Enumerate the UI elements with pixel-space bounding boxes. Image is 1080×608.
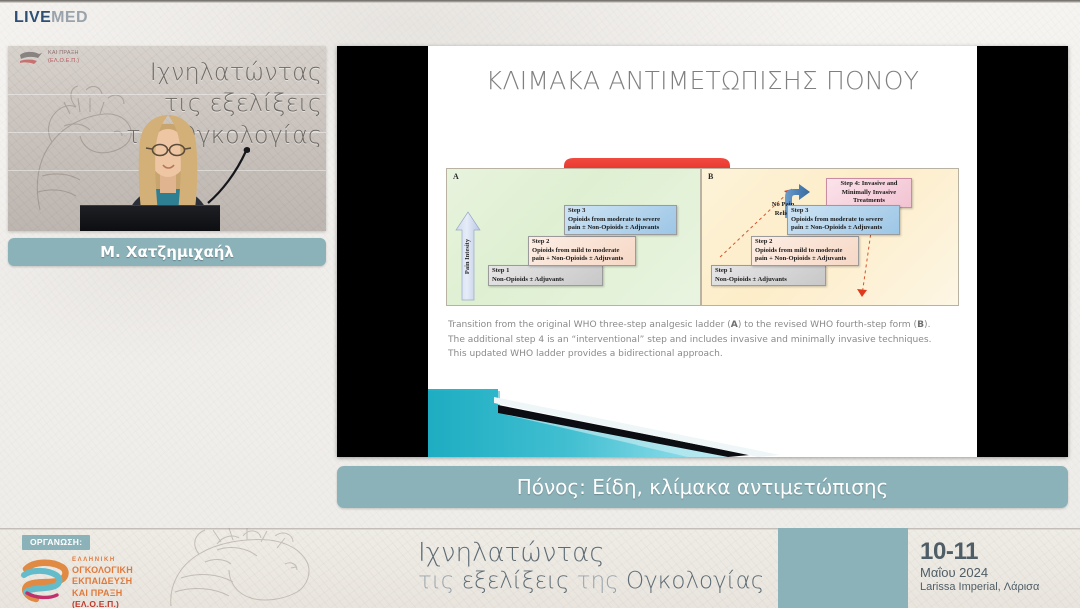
step-3-body-b: Opioids from moderate to severe pain ± N…	[791, 216, 896, 233]
stage-banner-line-1: Ιχνηλατώντας	[110, 60, 322, 84]
brand-part-live: LIVE	[14, 9, 51, 26]
step-2-title-a: Step 2	[532, 238, 632, 247]
microphone-icon	[206, 147, 250, 205]
pain-intensity-label-wrap: Pain Intesity	[455, 211, 481, 301]
step-2-box-a: Step 2 Opioids from mild to moderate pai…	[528, 236, 636, 266]
panel-a-letter: A	[453, 172, 459, 181]
figure-panel-a: A Pain Intesity Step 1 Non-Opioids ± Adj…	[446, 168, 701, 306]
eloep-swirl-icon	[18, 50, 44, 66]
figure-panel-b: B No Pain	[701, 168, 959, 306]
step-4-box-b: Step 4: Invasive and Minimally Invasive …	[826, 178, 912, 208]
step-3-title-b: Step 3	[791, 207, 896, 216]
presentation-slide[interactable]: ΚΛΙΜΑΚΑ ΑΝΤΙΜΕΤΩΠΙΣΗΣ ΠΟΝΟΥ A	[428, 46, 977, 457]
event-dates: 10-11	[920, 540, 1070, 564]
step-1-body-a: Non-Opioids ± Adjuvants	[492, 276, 599, 285]
footer-horse-sketch	[165, 528, 415, 608]
step-2-body-a: Opioids from mild to moderate pain + Non…	[532, 247, 632, 264]
organizer-name-line-2: ΟΓΚΟΛΟΓΙΚΗ	[72, 565, 133, 577]
stage-logo-line-1: ΚΑΙ ΠΡΑΞΗ	[48, 50, 79, 58]
step-1-title-b: Step 1	[715, 267, 822, 276]
slide-decoration-shape	[428, 377, 977, 457]
event-title-word-tis: τις	[418, 568, 462, 594]
livemed-logo: LIVEMED	[14, 9, 88, 27]
step-2-title-b: Step 2	[755, 238, 855, 247]
session-title-bar: Πόνος: Είδη, κλίμακα αντιμετώπισης	[337, 466, 1068, 508]
event-title-line-1: Ιχνηλατώντας	[418, 540, 778, 567]
organizer-badge: ΟΡΓΑΝΩΣΗ:	[22, 535, 90, 550]
pain-intensity-label: Pain Intesity	[465, 238, 472, 273]
event-month-year: Μαΐου 2024	[920, 565, 1070, 581]
lectern	[80, 205, 220, 231]
eloep-logo-icon	[18, 555, 70, 603]
step-1-title-a: Step 1	[492, 267, 599, 276]
step-1-box-b: Step 1 Non-Opioids ± Adjuvants	[711, 265, 826, 286]
step-2-body-b: Opioids from mild to moderate pain + Non…	[755, 247, 855, 264]
step-3-box-a: Step 3 Opioids from moderate to severe p…	[564, 205, 677, 235]
step-3-title-a: Step 3	[568, 207, 673, 216]
footer-accent-block	[778, 528, 908, 608]
organizer-name-line-3: ΕΚΠΑΙΔΕΥΣΗ	[72, 576, 133, 588]
organizer-block: ΟΡΓΑΝΩΣΗ: ΕΛΛΗΝΙΚΗ ΟΓΚΟΛΟΓΙΚΗ ΕΚΠΑΙΔΕΥΣΗ…	[14, 533, 154, 605]
speaker-video-player[interactable]: Ιχνηλατώντας τις εξελίξεις της Ογκολογία…	[8, 46, 326, 231]
event-title-word-tis2: της	[577, 568, 626, 594]
step-4-body-b: Step 4: Invasive and Minimally Invasive …	[830, 180, 908, 206]
event-venue: Larissa Imperial, Λάρισα	[920, 581, 1070, 595]
stage-logo-text: ΚΑΙ ΠΡΑΞΗ (ΕΛ.Ο.Ε.Π.)	[48, 50, 79, 66]
slide-stage-letterbox[interactable]: ΚΛΙΜΑΚΑ ΑΝΤΙΜΕΤΩΠΙΣΗΣ ΠΟΝΟΥ A	[337, 46, 1068, 457]
figure-caption: Transition from the original WHO three-s…	[448, 318, 948, 362]
footer-top-border	[0, 528, 1080, 530]
event-date-block: 10-11 Μαΐου 2024 Larissa Imperial, Λάρισ…	[920, 540, 1070, 595]
brand-part-med: MED	[51, 9, 88, 26]
panel-b-letter: B	[708, 172, 713, 181]
organizer-name-line-5: (ΕΛ.Ο.Ε.Π.)	[72, 599, 133, 608]
step-2-box-b: Step 2 Opioids from mild to moderate pai…	[751, 236, 859, 266]
step-3-body-a: Opioids from moderate to severe pain ± N…	[568, 216, 673, 233]
step-3-box-b: Step 3 Opioids from moderate to severe p…	[787, 205, 900, 235]
event-title: Ιχνηλατώντας τις εξελίξεις της Ογκολογία…	[418, 540, 778, 595]
organizer-name-line-1: ΕΛΛΗΝΙΚΗ	[72, 557, 133, 565]
slide-title: ΚΛΙΜΑΚΑ ΑΝΤΙΜΕΤΩΠΙΣΗΣ ΠΟΝΟΥ	[428, 66, 977, 95]
speaker-name-label: Μ. Χατζημιχαήλ	[100, 243, 234, 261]
speaker-name-plate: Μ. Χατζημιχαήλ	[8, 238, 326, 266]
stage-eloep-logo: ΚΑΙ ΠΡΑΞΗ (ΕΛ.Ο.Ε.Π.)	[18, 50, 79, 66]
step-1-body-b: Non-Opioids ± Adjuvants	[715, 276, 822, 285]
who-ladder-figure: A Pain Intesity Step 1 Non-Opioids ± Adj…	[446, 154, 959, 306]
event-footer-banner: ΟΡΓΑΝΩΣΗ: ΕΛΛΗΝΙΚΗ ΟΓΚΟΛΟΓΙΚΗ ΕΚΠΑΙΔΕΥΣΗ…	[0, 528, 1080, 608]
session-title-label: Πόνος: Είδη, κλίμακα αντιμετώπισης	[517, 475, 889, 499]
step-1-box-a: Step 1 Non-Opioids ± Adjuvants	[488, 265, 603, 286]
event-title-word-ekselikseis: εξελίξεις	[462, 568, 577, 594]
event-title-line-2: τις εξελίξεις της Ογκολογίας	[418, 569, 778, 594]
page-top-border	[0, 0, 1080, 3]
organizer-name-line-4: ΚΑΙ ΠΡΑΞΗ	[72, 588, 133, 600]
stage-logo-line-2: (ΕΛ.Ο.Ε.Π.)	[48, 58, 79, 66]
event-title-word-ogkologias: Ογκολογίας	[626, 568, 764, 594]
organizer-name: ΕΛΛΗΝΙΚΗ ΟΓΚΟΛΟΓΙΚΗ ΕΚΠΑΙΔΕΥΣΗ ΚΑΙ ΠΡΑΞΗ…	[72, 557, 133, 608]
